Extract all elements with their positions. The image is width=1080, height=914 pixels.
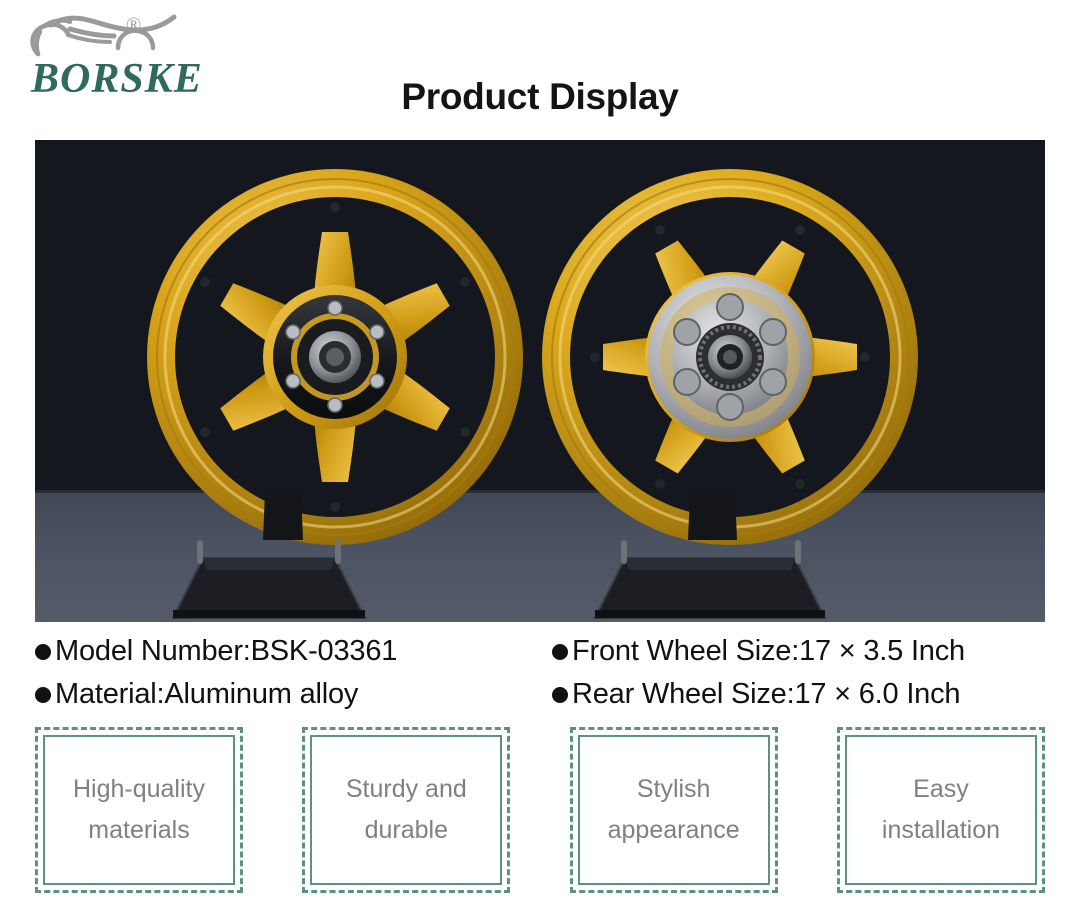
spec-front-wheel-size: Front Wheel Size:17 × 3.5 Inch	[552, 630, 1045, 673]
feature-box-inner: Sturdy and durable	[310, 735, 502, 885]
spec-model-number-text: Model Number:BSK-03361	[55, 635, 397, 668]
page-title: Product Display	[0, 76, 1080, 118]
feature-line-2: durable	[346, 810, 467, 851]
feature-box-sturdy-and-durable: Sturdy and durable	[302, 727, 510, 893]
feature-line-2: appearance	[608, 810, 740, 851]
specifications: Model Number:BSK-03361 Material:Aluminum…	[35, 630, 1045, 716]
registered-trademark-icon: ®	[126, 15, 141, 35]
specs-right-column: Front Wheel Size:17 × 3.5 Inch Rear Whee…	[540, 630, 1045, 716]
feature-line-1: Sturdy and	[346, 769, 467, 810]
bullet-icon	[552, 687, 568, 703]
bullet-icon	[552, 644, 568, 660]
feature-box-inner: Easy installation	[845, 735, 1037, 885]
feature-text: High-quality materials	[73, 769, 205, 852]
feature-box-stylish-appearance: Stylish appearance	[570, 727, 778, 893]
bullet-icon	[35, 687, 51, 703]
feature-text: Stylish appearance	[608, 769, 740, 852]
feature-box-high-quality-materials: High-quality materials	[35, 727, 243, 893]
feature-box-inner: Stylish appearance	[578, 735, 770, 885]
feature-box-inner: High-quality materials	[43, 735, 235, 885]
spec-front-wheel-size-text: Front Wheel Size:17 × 3.5 Inch	[572, 635, 965, 668]
spec-model-number: Model Number:BSK-03361	[35, 630, 540, 673]
product-photo	[35, 140, 1045, 622]
feature-text: Sturdy and durable	[346, 769, 467, 852]
feature-box-easy-installation: Easy installation	[837, 727, 1045, 893]
spec-rear-wheel-size: Rear Wheel Size:17 × 6.0 Inch	[552, 673, 1045, 716]
feature-line-2: materials	[73, 810, 205, 851]
feature-line-1: Stylish	[608, 769, 740, 810]
feature-boxes: High-quality materials Sturdy and durabl…	[35, 727, 1045, 895]
specs-left-column: Model Number:BSK-03361 Material:Aluminum…	[35, 630, 540, 716]
feature-line-1: High-quality	[73, 769, 205, 810]
spec-material-text: Material:Aluminum alloy	[55, 678, 358, 711]
feature-line-2: installation	[882, 810, 1000, 851]
spec-rear-wheel-size-text: Rear Wheel Size:17 × 6.0 Inch	[572, 678, 960, 711]
page-header: ® BORSKE Product Display	[0, 0, 1080, 140]
spec-material: Material:Aluminum alloy	[35, 673, 540, 716]
front-wheel-stand	[173, 492, 365, 618]
feature-text: Easy installation	[882, 769, 1000, 852]
bullet-icon	[35, 644, 51, 660]
feature-line-1: Easy	[882, 769, 1000, 810]
display-stands	[35, 140, 1045, 622]
rear-wheel-stand	[595, 492, 825, 618]
